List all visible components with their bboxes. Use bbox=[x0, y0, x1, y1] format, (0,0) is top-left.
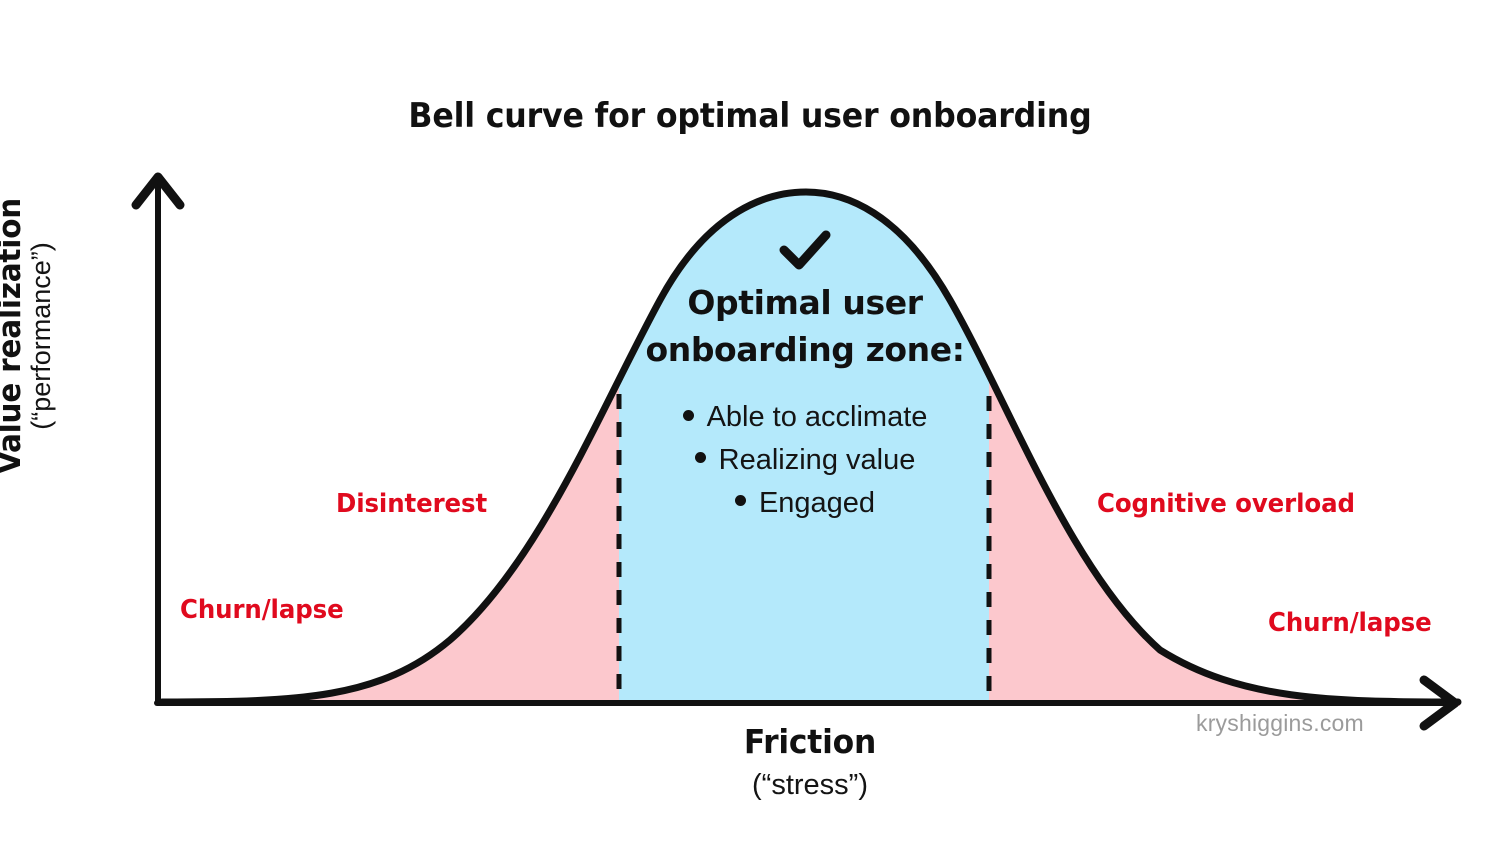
watermark-credit: kryshiggins.com bbox=[1196, 710, 1364, 737]
label-cognitive-overload: Cognitive overload bbox=[1097, 489, 1355, 519]
x-axis-title: Friction (“stress”) bbox=[560, 722, 1060, 802]
region-fill-disinterest bbox=[150, 150, 630, 710]
label-churn-lapse-left: Churn/lapse bbox=[180, 595, 344, 625]
x-axis-title-main: Friction bbox=[573, 722, 1048, 761]
x-axis-title-sub: (“stress”) bbox=[560, 769, 1060, 802]
label-churn-lapse-right: Churn/lapse bbox=[1268, 608, 1432, 638]
region-fill-optimal-zone bbox=[615, 150, 995, 710]
label-disinterest: Disinterest bbox=[336, 489, 487, 519]
bell-curve-infographic: Bell curve for optimal user onboarding bbox=[0, 0, 1500, 861]
